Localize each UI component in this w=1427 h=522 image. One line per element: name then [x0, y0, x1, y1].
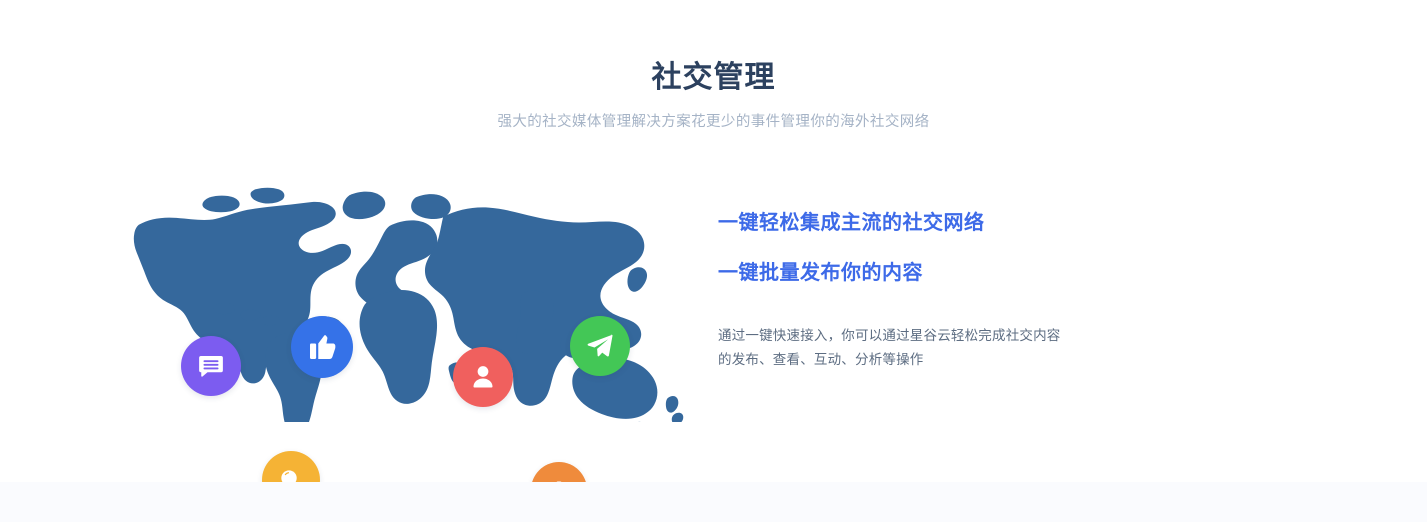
badge-thumbs-up[interactable]: [291, 316, 353, 378]
social-management-page: 社交管理 强大的社交媒体管理解决方案花更少的事件管理你的海外社交网络: [0, 0, 1427, 522]
paper-plane-icon: [585, 331, 615, 361]
user-profile-icon: [468, 362, 498, 392]
copy-column: 一键轻松集成主流的社交网络 一键批量发布你的内容 通过一键快速接入，你可以通过星…: [718, 210, 1078, 372]
content-row: 一键轻松集成主流的社交网络 一键批量发布你的内容 通过一键快速接入，你可以通过星…: [0, 150, 1427, 420]
section-header: 社交管理 强大的社交媒体管理解决方案花更少的事件管理你的海外社交网络: [0, 58, 1427, 132]
page-title: 社交管理: [0, 58, 1427, 98]
badge-chat-bubble[interactable]: [181, 336, 241, 396]
badge-user-profile[interactable]: [453, 347, 513, 407]
headline-primary: 一键轻松集成主流的社交网络: [718, 210, 1078, 236]
body-paragraph: 通过一键快速接入，你可以通过星谷云轻松完成社交内容的发布、查看、互动、分析等操作: [718, 324, 1064, 372]
page-subtitle: 强大的社交媒体管理解决方案花更少的事件管理你的海外社交网络: [0, 112, 1427, 132]
thumbs-up-icon: [306, 331, 338, 363]
badge-paper-plane[interactable]: [570, 316, 630, 376]
headline-secondary: 一键批量发布你的内容: [718, 260, 1078, 286]
chat-bubble-icon: [196, 351, 226, 381]
bottom-band: [0, 482, 1427, 522]
